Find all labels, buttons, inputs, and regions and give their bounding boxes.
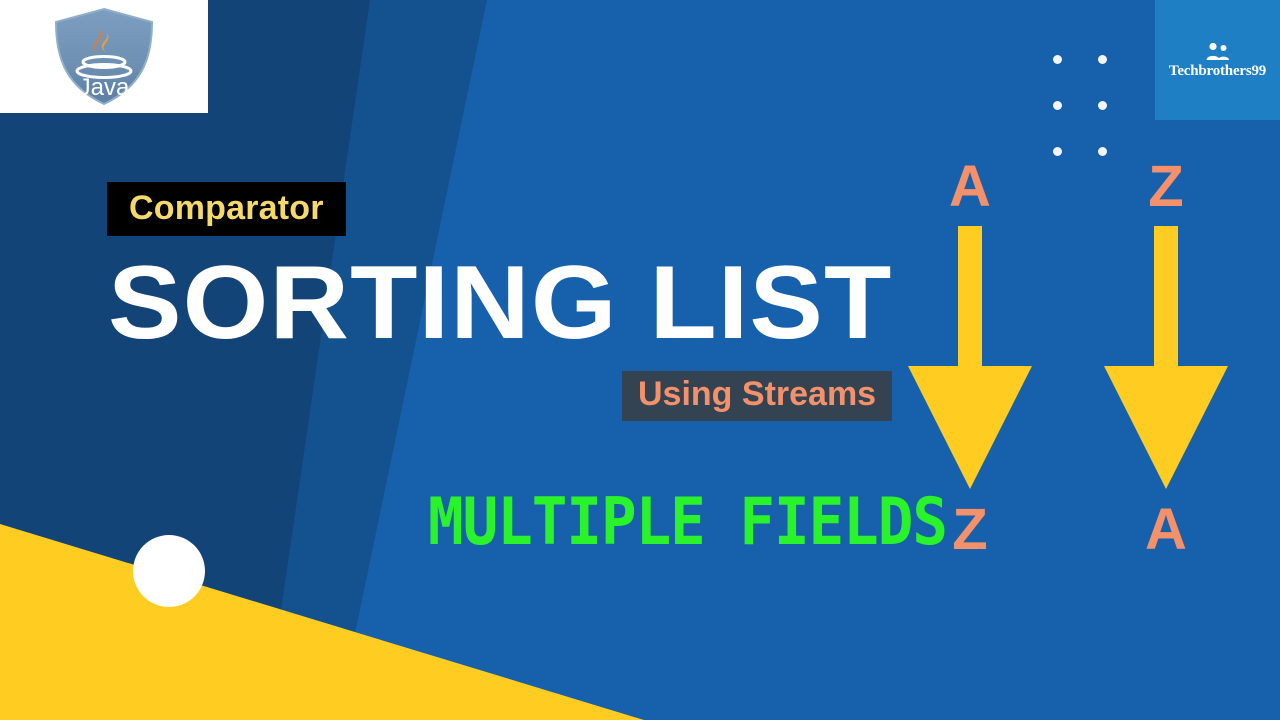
dot <box>1098 101 1107 110</box>
channel-name-label: Techbrothers99 <box>1169 63 1266 80</box>
svg-text:Java: Java <box>79 74 130 101</box>
arrow-head <box>908 366 1032 489</box>
white-circle-decoration <box>133 535 205 607</box>
subtitle-multiple-fields: MULTIPLE FIELDS <box>428 489 947 554</box>
sort-letter-top-a: A <box>949 158 991 216</box>
arrow-head <box>1104 366 1228 489</box>
dot <box>1053 147 1062 156</box>
comparator-badge: Comparator <box>107 182 346 236</box>
using-streams-badge: Using Streams <box>622 371 892 421</box>
thumbnail-canvas: Java Techbrothers99 Comparator SORTING L… <box>0 0 1280 720</box>
arrow-shaft <box>958 226 982 366</box>
arrow-down-icon <box>908 226 1032 489</box>
people-group-icon <box>1203 41 1233 61</box>
sort-letter-top-z: Z <box>1148 158 1183 216</box>
sort-letter-bottom-z: Z <box>952 501 987 559</box>
channel-logo-plate: Techbrothers99 <box>1155 0 1280 120</box>
dot <box>1098 147 1107 156</box>
dot <box>1053 55 1062 64</box>
page-title: SORTING LIST <box>108 247 892 359</box>
dot <box>1098 55 1107 64</box>
java-logo-plate: Java <box>0 0 208 113</box>
sort-arrow-ascending: A Z <box>904 158 1036 559</box>
sort-arrow-descending: Z A <box>1100 158 1232 559</box>
sort-letter-bottom-a: A <box>1145 501 1187 559</box>
dot <box>1053 101 1062 110</box>
arrow-shaft <box>1154 226 1178 366</box>
arrow-down-icon <box>1104 226 1228 489</box>
java-shield-logo-icon: Java <box>45 7 163 107</box>
